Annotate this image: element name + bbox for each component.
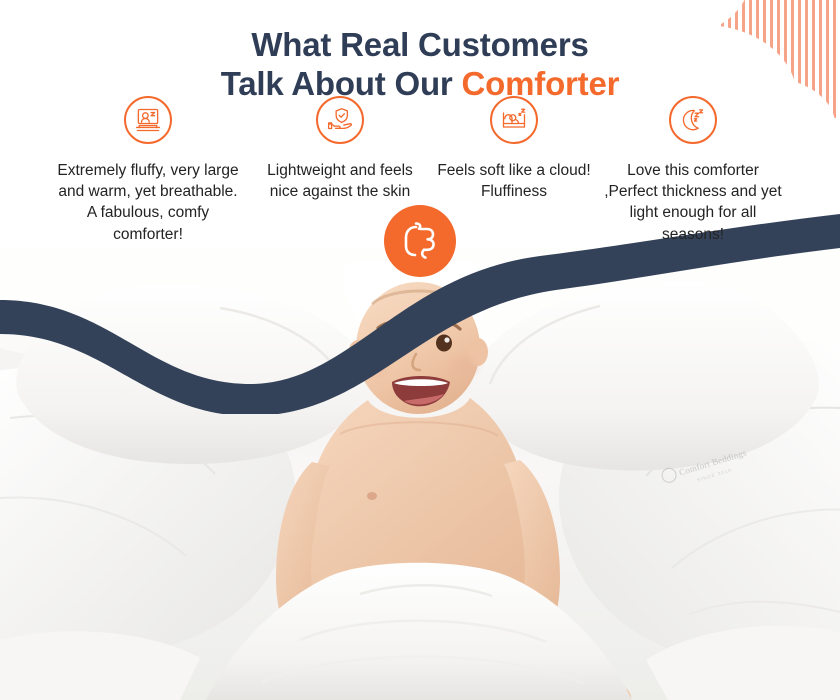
review-text-2: Lightweight and feels nice against the s… — [251, 160, 429, 203]
crescent-moon-zzz-icon — [669, 96, 717, 144]
review-item-2: Lightweight and feels nice against the s… — [247, 96, 433, 218]
page-title: What Real Customers Talk About Our Comfo… — [0, 26, 840, 104]
review-banner: What Real Customers Talk About Our Comfo… — [0, 0, 840, 700]
headline-line-1: What Real Customers — [0, 26, 840, 65]
comfort-beddings-logo-badge[interactable] — [384, 205, 456, 277]
person-sleeping-in-bed-icon — [124, 96, 172, 144]
review-text-3: Feels soft like a cloud! Fluffiness — [437, 160, 591, 203]
person-resting-on-pillow-icon — [490, 96, 538, 144]
review-item-3: Feels soft like a cloud! Fluffiness — [433, 96, 595, 218]
hand-holding-shield-check-icon — [316, 96, 364, 144]
review-item-1: Extremely fluffy, very large and warm, y… — [49, 96, 247, 261]
review-text-4: Love this comforter ,Perfect thickness a… — [599, 160, 787, 246]
review-text-1: Extremely fluffy, very large and warm, y… — [53, 160, 243, 246]
hero-photo — [0, 248, 840, 700]
review-item-4: Love this comforter ,Perfect thickness a… — [595, 96, 791, 261]
cb-monogram-icon — [400, 220, 440, 262]
